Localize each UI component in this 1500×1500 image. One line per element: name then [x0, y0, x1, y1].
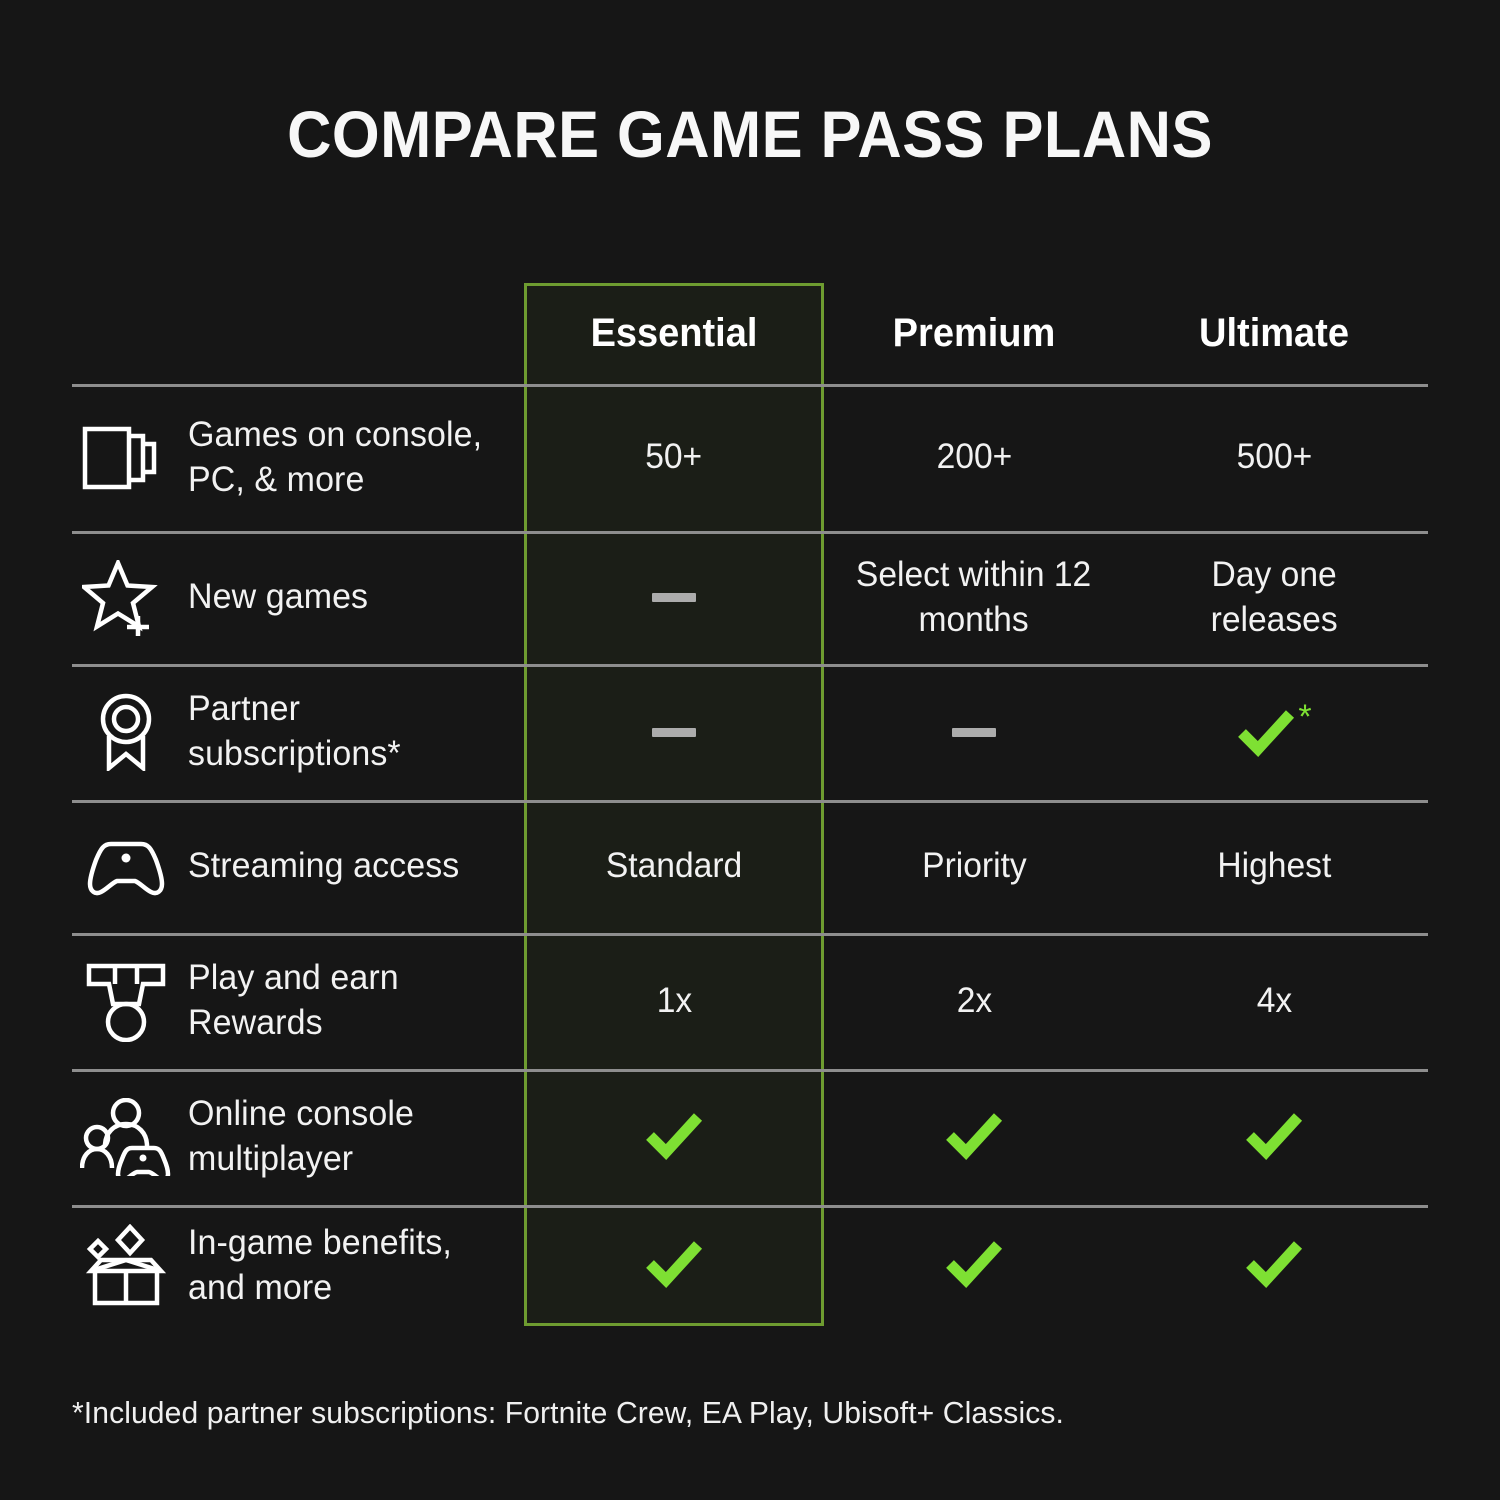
feature-label-line: Rewards — [188, 1003, 323, 1042]
value-cell-essential — [524, 1069, 824, 1205]
people-controller-icon — [78, 1101, 174, 1173]
value-cell-essential — [524, 1205, 824, 1326]
feature-label: Play and earn Rewards — [188, 956, 399, 1046]
checkmark-icon — [1244, 1109, 1304, 1166]
value-text: Select within 12 months — [856, 553, 1091, 643]
feature-label-line: Play and earn — [188, 958, 399, 997]
feature-cell: Streaming access — [72, 800, 524, 933]
value-text: 50+ — [646, 435, 703, 480]
value-cell-ultimate: Day one releases — [1124, 531, 1424, 664]
dash-indicator — [652, 728, 696, 737]
feature-label-line: Partner — [188, 689, 300, 728]
feature-label-line: multiplayer — [188, 1139, 353, 1178]
feature-cell: Games on console, PC, & more — [72, 384, 524, 531]
feature-label-line: New games — [188, 577, 368, 616]
value-text: Standard — [606, 844, 742, 889]
game-controller-icon — [78, 831, 174, 903]
feature-cell: Play and earn Rewards — [72, 933, 524, 1069]
column-header-premium[interactable]: Premium — [832, 283, 1117, 384]
feature-label-line: PC, & more — [188, 460, 364, 499]
feature-label: Games on console, PC, & more — [188, 413, 482, 503]
dash-indicator — [652, 593, 696, 602]
value-text-line: months — [919, 600, 1029, 639]
value-cell-premium — [824, 1205, 1124, 1326]
feature-label: In-game benefits, and more — [188, 1221, 452, 1311]
table-row: Games on console, PC, & more 50+ 200+ 50… — [72, 384, 1428, 531]
table-row: Partner subscriptions* * — [72, 664, 1428, 800]
value-text: Day one releases — [1210, 553, 1337, 643]
value-text: 2x — [956, 979, 991, 1024]
feature-label-line: and more — [188, 1268, 332, 1307]
value-text: 1x — [656, 979, 691, 1024]
feature-label: Online console multiplayer — [188, 1092, 414, 1182]
value-cell-essential: 1x — [524, 933, 824, 1069]
star-plus-icon — [78, 562, 174, 634]
table-row: Play and earn Rewards 1x 2x 4x — [72, 933, 1428, 1069]
value-cell-ultimate: 4x — [1124, 933, 1424, 1069]
column-header-essential[interactable]: Essential — [532, 283, 817, 384]
feature-label-line: Games on console, — [188, 415, 482, 454]
checkmark-icon — [1236, 706, 1296, 758]
feature-label: Partner subscriptions* — [188, 687, 401, 777]
value-cell-essential — [524, 664, 824, 800]
value-text: 200+ — [936, 435, 1012, 480]
checkmark-icon — [644, 1109, 704, 1166]
feature-cell: New games — [72, 531, 524, 664]
column-header-ultimate[interactable]: Ultimate — [1132, 283, 1417, 384]
feature-cell: Partner subscriptions* — [72, 664, 524, 800]
checkmark-icon — [1244, 1237, 1304, 1294]
page-title: COMPARE GAME PASS PLANS — [53, 96, 1448, 172]
value-cell-ultimate: Highest — [1124, 800, 1424, 933]
value-cell-premium: 200+ — [824, 384, 1124, 531]
medal-icon — [78, 965, 174, 1037]
dash-indicator — [952, 728, 996, 737]
checkmark-icon — [644, 1237, 704, 1294]
checkmark-icon — [944, 1237, 1004, 1294]
table-row: Online console multiplayer — [72, 1069, 1428, 1205]
compare-plans-page: COMPARE GAME PASS PLANS Essential Premiu… — [0, 0, 1500, 1500]
value-text-line: Day one — [1211, 555, 1336, 594]
value-cell-ultimate: * — [1124, 664, 1424, 800]
table-row: New games Select within 12 months Day on… — [72, 531, 1428, 664]
games-library-icon — [78, 422, 174, 494]
value-text: Priority — [922, 844, 1027, 889]
plan-comparison-table: Essential Premium Ultimate Games on cons… — [72, 283, 1428, 1326]
feature-label-line: In-game benefits, — [188, 1223, 452, 1262]
value-cell-ultimate — [1124, 1205, 1424, 1326]
checkmark-with-asterisk: * — [1236, 706, 1311, 758]
value-cell-ultimate — [1124, 1069, 1424, 1205]
feature-label-line: subscriptions* — [188, 734, 401, 773]
value-cell-essential: Standard — [524, 800, 824, 933]
table-row: Streaming access Standard Priority Highe… — [72, 800, 1428, 933]
value-text: Highest — [1217, 844, 1331, 889]
value-cell-premium: Priority — [824, 800, 1124, 933]
feature-label: Streaming access — [188, 844, 459, 889]
value-text-line: releases — [1210, 600, 1337, 639]
award-badge-icon — [78, 696, 174, 768]
footnote-partner-subscriptions: *Included partner subscriptions: Fortnit… — [72, 1395, 1064, 1431]
table-row: In-game benefits, and more — [72, 1205, 1428, 1326]
value-cell-premium: 2x — [824, 933, 1124, 1069]
feature-label-line: Streaming access — [188, 846, 459, 885]
feature-label-line: Online console — [188, 1094, 414, 1133]
feature-cell: Online console multiplayer — [72, 1069, 524, 1205]
checkmark-icon — [944, 1109, 1004, 1166]
value-text-line: Select within 12 — [856, 555, 1091, 594]
asterisk-marker: * — [1298, 702, 1311, 732]
value-cell-ultimate: 500+ — [1124, 384, 1424, 531]
value-cell-essential — [524, 531, 824, 664]
feature-cell: In-game benefits, and more — [72, 1205, 524, 1326]
feature-label: New games — [188, 575, 368, 620]
value-cell-premium — [824, 1069, 1124, 1205]
table-header-row: Essential Premium Ultimate — [72, 283, 1428, 384]
value-cell-premium: Select within 12 months — [824, 531, 1124, 664]
value-text: 500+ — [1236, 435, 1312, 480]
value-cell-premium — [824, 664, 1124, 800]
value-cell-essential: 50+ — [524, 384, 824, 531]
gift-box-sparkle-icon — [78, 1230, 174, 1302]
value-text: 4x — [1256, 979, 1291, 1024]
